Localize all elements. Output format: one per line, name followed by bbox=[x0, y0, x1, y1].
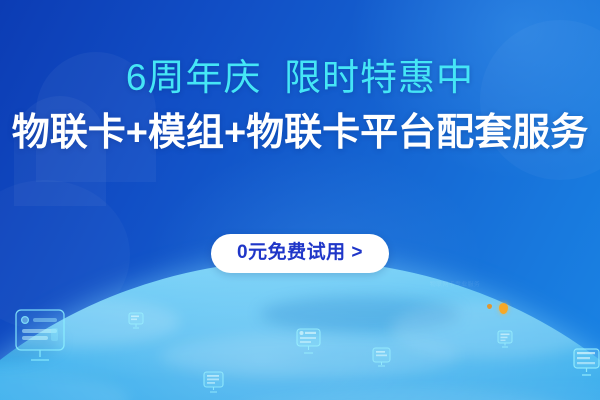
headline-block: 6周年庆 限时特惠中 物联卡+模组+物联卡平台配套服务 bbox=[0, 0, 600, 153]
globe-texture-5 bbox=[230, 388, 570, 400]
cta-container: 0元免费试用 > bbox=[0, 234, 600, 273]
earth-globe bbox=[0, 260, 600, 400]
promo-banner: 物联网卡专业服务 bbox=[0, 0, 600, 400]
globe-texture-3 bbox=[390, 300, 600, 358]
headline-secondary: 物联卡+模组+物联卡平台配套服务 bbox=[0, 97, 600, 153]
free-trial-button[interactable]: 0元免费试用 > bbox=[211, 234, 389, 273]
headline-primary: 6周年庆 限时特惠中 bbox=[0, 0, 600, 97]
